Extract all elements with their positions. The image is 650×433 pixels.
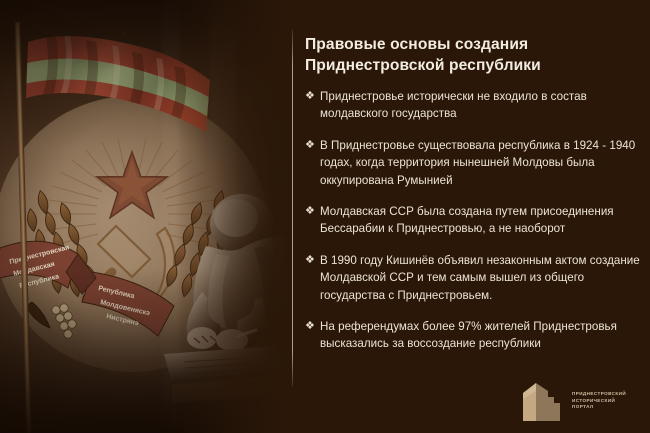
list-item: ❖ В 1990 году Кишинёв объявил незаконным…: [305, 252, 645, 304]
page-title: Правовые основы создания Приднестровской…: [305, 35, 635, 76]
logo-line-1: Приднестровский: [572, 391, 644, 398]
list-item: ❖ Приднестровье исторически не входило в…: [305, 88, 645, 123]
hero-photo: Приднестровская Молдавская Республика Ре…: [0, 0, 295, 433]
list-item-text: В 1990 году Кишинёв объявил незаконным а…: [320, 252, 645, 304]
list-item-text: Приднестровье исторически не входило в с…: [320, 88, 645, 123]
list-item-text: В Приднестровье существовала республика …: [320, 137, 645, 189]
list-item: ❖ Молдавская ССР была создана путем прис…: [305, 203, 645, 238]
page-title-line-1: Правовые основы создания: [305, 35, 635, 56]
list-item-text: На референдумах более 97% жителей Придне…: [320, 318, 645, 353]
logo-line-3: Портал: [572, 404, 644, 411]
slide: Приднестровская Молдавская Республика Ре…: [0, 0, 650, 433]
bullet-diamond-icon: ❖: [305, 137, 320, 154]
site-logo[interactable]: Приднестровский Исторический Портал: [518, 378, 644, 424]
page-title-line-2: Приднестровской республики: [305, 56, 635, 77]
list-item-text: Молдавская ССР была создана путем присое…: [320, 203, 645, 238]
bullet-diamond-icon: ❖: [305, 203, 320, 220]
logo-line-2: Исторический: [572, 398, 644, 405]
list-item: ❖ На референдумах более 97% жителей Прид…: [305, 318, 645, 353]
vertical-divider: [292, 30, 293, 386]
bullet-diamond-icon: ❖: [305, 318, 320, 335]
bullet-list: ❖ Приднестровье исторически не входило в…: [305, 88, 645, 367]
bullet-diamond-icon: ❖: [305, 88, 320, 105]
photo-edge-fade: [175, 0, 295, 433]
bullet-diamond-icon: ❖: [305, 252, 320, 269]
fortress-building-icon: [518, 379, 566, 423]
site-logo-text: Приднестровский Исторический Портал: [566, 391, 644, 411]
content-panel: Правовые основы создания Приднестровской…: [305, 0, 650, 433]
list-item: ❖ В Приднестровье существовала республик…: [305, 137, 645, 189]
